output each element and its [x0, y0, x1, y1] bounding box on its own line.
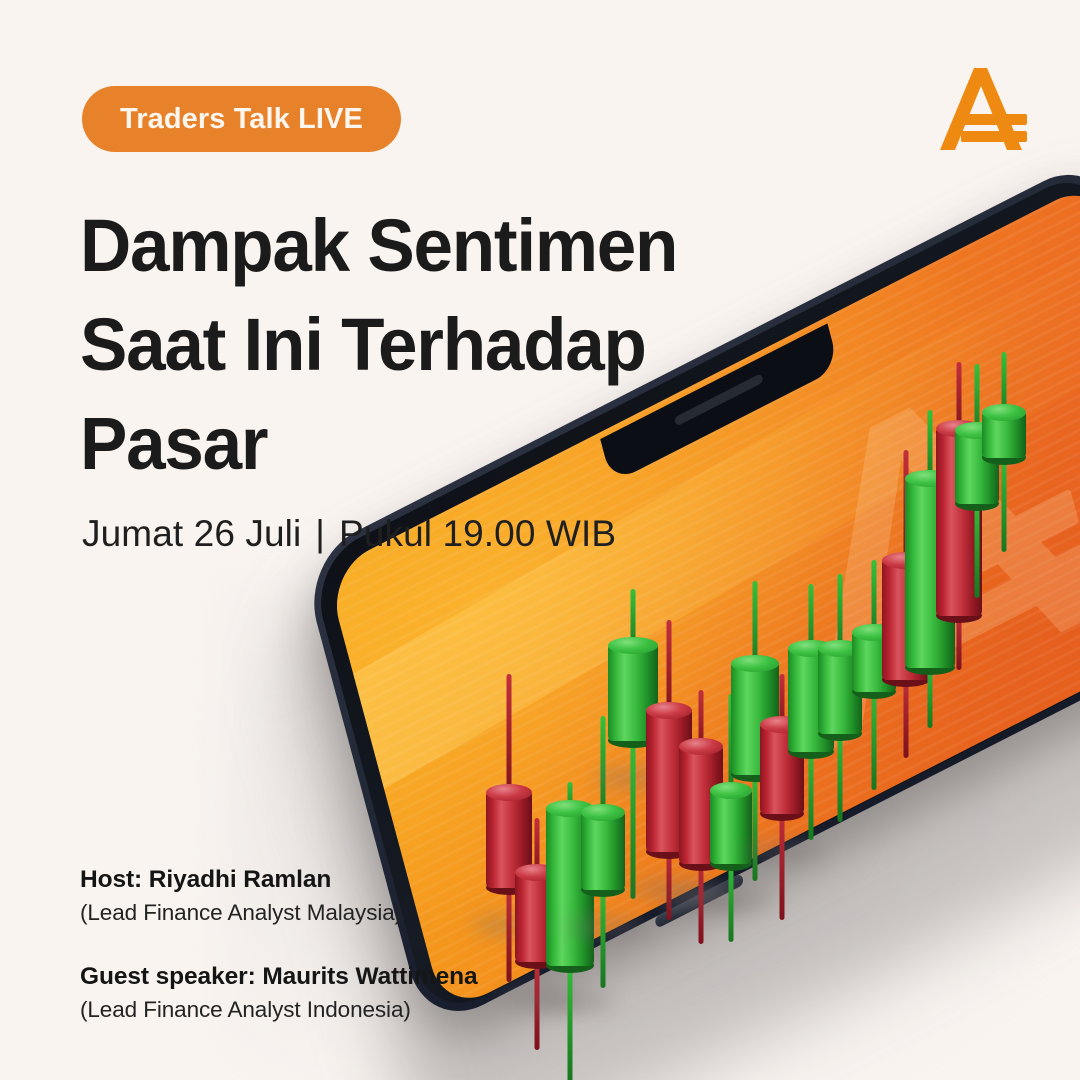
- candle-body-tube: [515, 872, 559, 962]
- candle-15-up: [905, 410, 955, 726]
- candle-wick-upper: [872, 560, 877, 642]
- candle-body-cap: [710, 782, 752, 799]
- candle-shadow: [665, 890, 743, 912]
- candle-body-base: [760, 806, 804, 821]
- candle-shadow: [632, 878, 712, 900]
- candle-body-cap: [608, 637, 658, 654]
- candle-5-up: [608, 589, 658, 897]
- candle-wick-upper: [904, 450, 909, 570]
- candle-10-down: [760, 674, 804, 918]
- candle-body-tube: [486, 792, 532, 888]
- candle-body-tube: [818, 648, 862, 734]
- candle-body: [608, 645, 658, 741]
- candle-body-base: [608, 733, 658, 748]
- candle-body-tube: [581, 812, 625, 890]
- guest-credit: Guest speaker: Maurits Wattimena (Lead F…: [80, 963, 478, 1023]
- guest-role: (Lead Finance Analyst Indonesia): [80, 997, 478, 1023]
- candle-wick-lower: [568, 958, 573, 1080]
- credits-block: Host: Riyadhi Ramlan (Lead Finance Analy…: [80, 866, 478, 1023]
- candle-body-cap: [515, 864, 559, 881]
- candle-4-up: [581, 716, 625, 986]
- candle-7-down: [679, 690, 723, 942]
- candle-body: [710, 790, 752, 864]
- candle-body: [982, 412, 1026, 458]
- candle-body-cap: [905, 470, 955, 487]
- candle-body: [936, 428, 982, 616]
- schedule-line: Jumat 26 Juli | Pukul 19.00 WIB: [82, 513, 616, 555]
- candle-body-cap: [679, 738, 723, 755]
- headline-line-3: Pasar: [80, 394, 771, 493]
- candle-body-tube: [852, 632, 896, 692]
- candle-shadow: [501, 988, 579, 1010]
- candle-3-up: [546, 782, 594, 1080]
- candle-wick-upper: [699, 690, 704, 756]
- candle-body-base: [818, 726, 862, 741]
- candle-wick-lower: [631, 733, 636, 899]
- candle-shadow: [696, 890, 772, 912]
- candle-body: [646, 710, 692, 852]
- candle-wick-upper: [507, 674, 512, 802]
- candle-body-base: [882, 672, 930, 687]
- headline-line-1: Dampak Sentimen: [80, 196, 771, 295]
- candle-body-tube: [731, 663, 779, 775]
- candle-wick-lower: [957, 608, 962, 670]
- candle-body-cap: [546, 800, 594, 817]
- candle-body: [515, 872, 559, 962]
- candle-wick-upper: [1002, 352, 1007, 422]
- candle-shadow: [472, 914, 552, 936]
- candle-body: [905, 478, 955, 668]
- host-name: Host: Riyadhi Ramlan: [80, 866, 478, 894]
- axi-a-logo: [930, 58, 1032, 160]
- candle-wick-lower: [809, 744, 814, 840]
- candle-wick-upper: [601, 716, 606, 822]
- candle-wick-lower: [975, 496, 980, 598]
- candle-wick-lower: [1002, 450, 1007, 552]
- candle-body-cap: [955, 422, 999, 439]
- candle-shadow: [746, 840, 824, 862]
- candle-16-down: [936, 362, 982, 668]
- candle-body-base: [546, 958, 594, 973]
- candle-8-up: [710, 694, 752, 940]
- candle-body-cap: [646, 702, 692, 719]
- candle-wick-lower: [507, 880, 512, 982]
- candle-body-tube: [788, 648, 834, 752]
- candle-wick-lower: [780, 806, 785, 920]
- candle-body-cap: [882, 552, 930, 569]
- candle-wick-lower: [753, 767, 758, 881]
- candle-body-base: [788, 744, 834, 759]
- candle-body-base: [982, 450, 1026, 465]
- candle-wick-upper: [975, 364, 980, 440]
- candle-body-base: [936, 608, 982, 623]
- candle-body-base: [515, 954, 559, 969]
- candle-shadow: [567, 916, 645, 938]
- candle-wick-lower: [667, 844, 672, 920]
- candle-body-cap: [788, 640, 834, 657]
- candle-body-base: [731, 767, 779, 782]
- candle-wick-upper: [928, 410, 933, 488]
- candle-body-tube: [955, 430, 999, 504]
- candle-body-base: [646, 844, 692, 859]
- candle-body-tube: [882, 560, 930, 680]
- candle-body-tube: [982, 412, 1026, 458]
- candle-body: [546, 808, 594, 966]
- candle-body: [788, 648, 834, 752]
- schedule-separator: |: [315, 513, 325, 555]
- candle-body-cap: [760, 716, 804, 733]
- candle-body-tube: [710, 790, 752, 864]
- candle-body-tube: [646, 710, 692, 852]
- candle-body: [760, 724, 804, 814]
- candle-body-base: [955, 496, 999, 511]
- guest-name: Guest speaker: Maurits Wattimena: [80, 963, 478, 991]
- candle-14-down: [882, 450, 930, 756]
- screen-watermark-logo: [738, 322, 1080, 777]
- candle-wick-upper: [957, 362, 962, 438]
- candle-body-tube: [760, 724, 804, 814]
- candle-shadow: [594, 767, 678, 789]
- candle-body-tube: [608, 645, 658, 741]
- candle-wick-lower: [699, 856, 704, 944]
- phone-side-button: [654, 873, 744, 929]
- candle-body-cap: [581, 804, 625, 821]
- candle-wick-upper: [729, 694, 734, 800]
- candle-body-base: [581, 882, 625, 897]
- candle-wick-upper: [568, 782, 573, 818]
- candle-wick-upper: [631, 589, 636, 655]
- candle-body-cap: [936, 420, 982, 437]
- candle-2-down: [515, 818, 559, 1048]
- candle-11-up: [788, 584, 834, 838]
- candle-body-cap: [852, 624, 896, 641]
- candle-body-cap: [731, 655, 779, 672]
- candle-wick-lower: [928, 660, 933, 728]
- schedule-time: Pukul 19.00 WIB: [339, 513, 616, 555]
- candle-wick-upper: [753, 581, 758, 673]
- candle-body-tube: [936, 428, 982, 616]
- candle-wick-upper: [535, 818, 540, 882]
- candle-body: [679, 746, 723, 864]
- candle-body: [955, 430, 999, 504]
- headline-line-2: Saat Ini Terhadap: [80, 295, 771, 394]
- candle-wick-lower: [729, 856, 734, 942]
- candle-18-up: [982, 352, 1026, 550]
- candle-body-base: [486, 880, 532, 895]
- candle-body: [882, 560, 930, 680]
- candle-13-up: [852, 560, 896, 788]
- candle-body-base: [710, 856, 752, 871]
- candle-body-cap: [818, 640, 862, 657]
- candle-wick-upper: [667, 620, 672, 720]
- candle-body-tube: [905, 478, 955, 668]
- candle-body-base: [852, 684, 896, 699]
- candle-9-up: [731, 581, 779, 879]
- candle-wick-upper: [838, 574, 843, 658]
- candle-body-cap: [982, 404, 1026, 421]
- candle-body: [581, 812, 625, 890]
- candle-12-up: [818, 574, 862, 820]
- candle-body-cap: [486, 784, 532, 801]
- candle-wick-upper: [780, 674, 785, 734]
- candle-wick-lower: [872, 684, 877, 790]
- candle-wick-lower: [838, 726, 843, 822]
- candle-shadow: [532, 992, 614, 1014]
- page-title: Dampak Sentimen Saat Ini Terhadap Pasar: [80, 196, 771, 493]
- candle-body: [818, 648, 862, 734]
- schedule-date: Jumat 26 Juli: [82, 513, 301, 555]
- candle-body: [731, 663, 779, 775]
- candle-1-down: [486, 674, 532, 980]
- candle-body-base: [905, 660, 955, 675]
- candle-17-up: [955, 364, 999, 596]
- candle-wick-lower: [535, 954, 540, 1050]
- candle-body-tube: [679, 746, 723, 864]
- host-role: (Lead Finance Analyst Malaysia): [80, 900, 478, 926]
- candle-body-base: [679, 856, 723, 871]
- candle-body: [852, 632, 896, 692]
- candle-wick-upper: [809, 584, 814, 658]
- candle-wick-lower: [601, 882, 606, 988]
- candle-6-down: [646, 620, 692, 918]
- host-credit: Host: Riyadhi Ramlan (Lead Finance Analy…: [80, 866, 478, 926]
- promo-poster: Traders Talk LIVE Dampak Sentimen Saat I…: [0, 0, 1080, 1080]
- candle-wick-lower: [904, 672, 909, 758]
- candle-body-tube: [546, 808, 594, 966]
- live-badge: Traders Talk LIVE: [82, 86, 401, 152]
- candle-body: [486, 792, 532, 888]
